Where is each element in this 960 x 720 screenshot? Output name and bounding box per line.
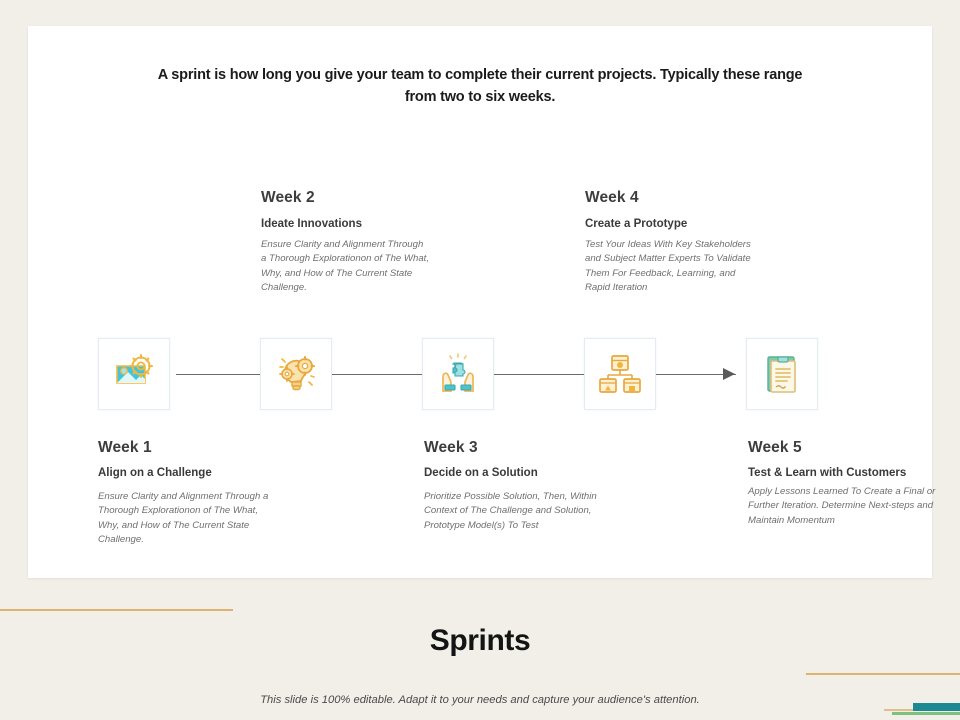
step-title: Test & Learn with Customers [748,467,948,479]
step-title: Decide on a Solution [424,467,599,479]
page-title: Sprints [0,624,960,658]
step-icon-box-week-1[interactable] [98,338,170,410]
step-icon-box-week-5[interactable] [746,338,818,410]
timeline-arrow-icon [723,368,735,380]
hands-puzzle-icon [433,349,483,399]
step-icon-box-week-3[interactable] [422,338,494,410]
decorative-line-right [806,673,960,675]
lightbulb-gears-icon [271,349,321,399]
timeline-step-week-2: Week 2 Ideate Innovations Ensure Clarity… [261,189,431,296]
footer-note: This slide is 100% editable. Adapt it to… [0,694,960,706]
decorative-line-left [0,609,233,611]
step-body: Apply Lessons Learned To Create a Final … [748,485,948,528]
decorative-bar-green [892,712,960,715]
step-title: Create a Prototype [585,218,760,230]
timeline-step-week-3: Week 3 Decide on a Solution Prioritize P… [424,439,599,533]
step-week-label: Week 3 [424,439,599,457]
step-icon-box-week-4[interactable] [584,338,656,410]
step-body: Prioritize Possible Solution, Then, With… [424,490,599,533]
timeline-step-week-1: Week 1 Align on a Challenge Ensure Clari… [98,439,278,548]
timeline-step-week-5: Week 5 Test & Learn with Customers Apply… [748,439,948,528]
slide-card: A sprint is how long you give your team … [28,26,932,578]
step-body: Test Your Ideas With Key Stakeholders an… [585,238,760,296]
step-week-label: Week 2 [261,189,431,207]
document-certificate-icon [757,349,807,399]
step-body: Ensure Clarity and Alignment Through a T… [98,490,278,548]
step-icon-box-week-2[interactable] [260,338,332,410]
step-body: Ensure Clarity and Alignment Through a T… [261,238,431,296]
step-title: Align on a Challenge [98,467,278,479]
step-week-label: Week 1 [98,439,278,457]
org-chart-boxes-icon [595,349,645,399]
timeline-step-week-4: Week 4 Create a Prototype Test Your Idea… [585,189,760,296]
image-gear-icon [109,349,159,399]
step-week-label: Week 5 [748,439,948,457]
step-week-label: Week 4 [585,189,760,207]
step-title: Ideate Innovations [261,218,431,230]
headline-text: A sprint is how long you give your team … [148,64,812,109]
